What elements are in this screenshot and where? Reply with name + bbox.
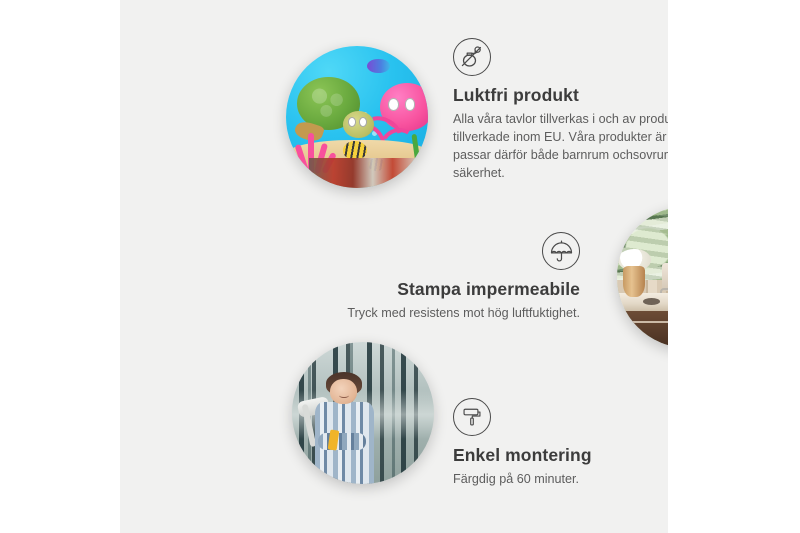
- medallion-bathroom-image: [617, 206, 668, 348]
- fish-purple: [367, 59, 390, 73]
- feature-title: Enkel montering: [453, 445, 668, 466]
- feature-description: Alla våra tavlor tillverkas i och av pro…: [453, 111, 668, 183]
- room-photo-strip: [309, 158, 420, 188]
- feature-title: Luktfri produkt: [453, 85, 668, 106]
- painter-artwork: [292, 342, 434, 484]
- fish-striped-yellow: [343, 141, 367, 159]
- feature-mounting: Enkel montering Färgdig på 60 minuter.: [453, 398, 668, 489]
- no-odour-perfume-bottle-icon: [453, 38, 491, 76]
- content-panel: Luktfri produkt Alla våra tavlor tillver…: [120, 0, 668, 533]
- ocean-artwork: [286, 46, 428, 188]
- mirror: [662, 263, 668, 291]
- feature-waterproof: Stampa impermeabile Tryck med resistens …: [335, 232, 580, 323]
- feature-odourless: Luktfri produkt Alla våra tavlor tillver…: [453, 38, 668, 183]
- paint-roller-icon: [453, 398, 491, 436]
- feature-title: Stampa impermeabile: [335, 279, 580, 300]
- bathroom-artwork: [617, 206, 668, 348]
- medallion-ocean-image: [286, 46, 428, 188]
- medallion-painter-image: [292, 342, 434, 484]
- feature-description: Färgdig på 60 minuter.: [453, 471, 668, 489]
- vase: [623, 266, 646, 297]
- umbrella-icon: [542, 232, 580, 270]
- vanity-cabinet: [617, 311, 668, 348]
- crossed-arms: [318, 433, 366, 450]
- feature-description: Tryck med resistens mot hög luftfuktighe…: [335, 305, 580, 323]
- face: [330, 379, 357, 405]
- infographic-canvas: Luktfri produkt Alla våra tavlor tillver…: [0, 0, 800, 533]
